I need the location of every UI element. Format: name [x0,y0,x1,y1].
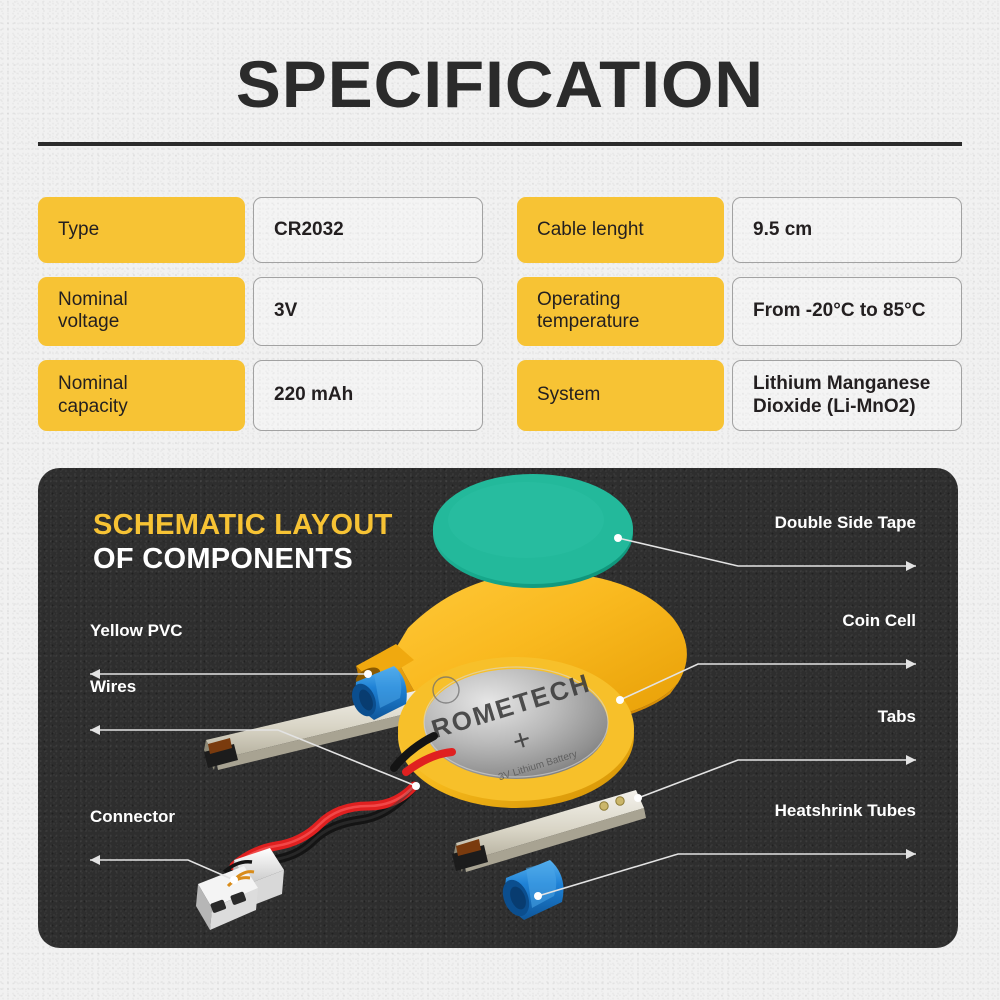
spec-value-operating-temperature: From -20°C to 85°C [732,277,962,346]
table-row: Nominalvoltage 3V [38,277,483,346]
spec-label-type: Type [38,197,245,263]
leader-anchor-dots [230,534,642,900]
spec-value-cable-length: 9.5 cm [732,197,962,263]
specification-infographic: SPECIFICATION Type CR2032 Cable lenght 9… [0,0,1000,1000]
spec-label-nominal-capacity: Nominalcapacity [38,360,245,432]
schematic-panel: SCHEMATIC LAYOUT OF COMPONENTS [38,468,958,948]
callout-label-tabs: Tabs [878,707,916,727]
callout-label-double-side-tape: Double Side Tape [775,513,916,533]
schematic-heading: SCHEMATIC LAYOUT OF COMPONENTS [93,508,393,576]
spec-label-system: System [517,360,724,432]
callout-label-heatshrink-tubes: Heatshrink Tubes [775,801,916,821]
spec-label-cable-length: Cable lenght [517,197,724,263]
table-row: System Lithium ManganeseDioxide (Li-MnO2… [517,360,962,432]
title-divider [38,142,962,146]
table-row: Cable lenght 9.5 cm [517,197,962,263]
spec-label-nominal-voltage: Nominalvoltage [38,277,245,346]
spec-value-system: Lithium ManganeseDioxide (Li-MnO2) [732,360,962,432]
table-row: Type CR2032 [38,197,483,263]
spec-value-nominal-voltage: 3V [253,277,483,346]
specification-table: Type CR2032 Cable lenght 9.5 cm Nominalv… [38,197,962,431]
callout-label-wires: Wires [90,677,136,697]
callout-label-yellow-pvc: Yellow PVC [90,621,183,641]
callout-label-coin-cell: Coin Cell [842,611,916,631]
callout-label-connector: Connector [90,807,175,827]
spec-value-nominal-capacity: 220 mAh [253,360,483,432]
page-title: SPECIFICATION [0,0,1000,122]
table-row: Operatingtemperature From -20°C to 85°C [517,277,962,346]
table-row: Nominalcapacity 220 mAh [38,360,483,432]
spec-label-operating-temperature: Operatingtemperature [517,277,724,346]
spec-value-type: CR2032 [253,197,483,263]
schematic-heading-line1: SCHEMATIC LAYOUT [93,508,393,542]
schematic-heading-line2: OF COMPONENTS [93,542,393,576]
